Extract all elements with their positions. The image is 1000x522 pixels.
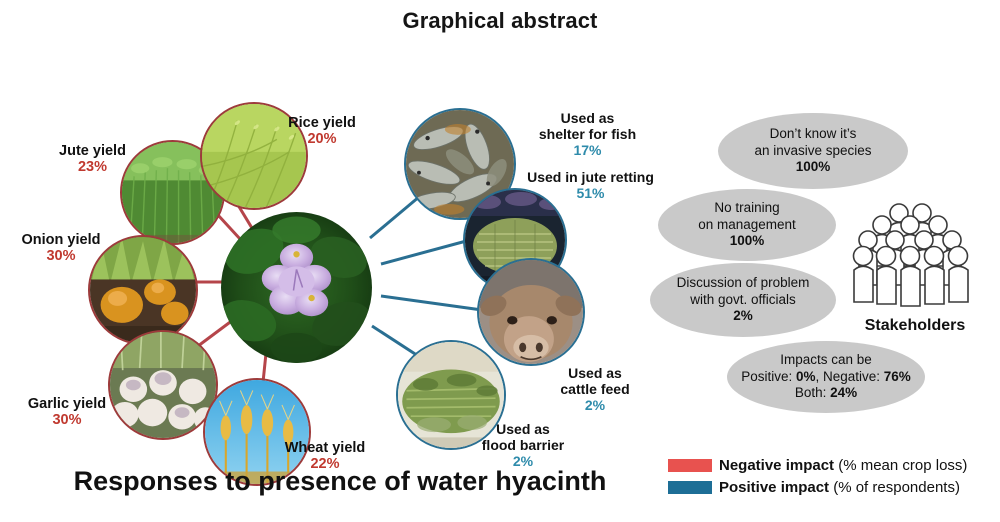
legend-label-negative: Negative impact bbox=[719, 457, 834, 474]
onion-yield-label: Onion yield bbox=[22, 232, 101, 248]
rice-yield-value: 20% bbox=[272, 131, 372, 147]
legend: Negative impact (% mean crop loss) Posit… bbox=[668, 455, 998, 499]
cattle-feed-line2: cattle feed bbox=[560, 381, 629, 397]
flood-barrier-line2: flood barrier bbox=[482, 437, 564, 453]
bubble-govt-value: 2% bbox=[677, 308, 810, 324]
label-garlic-yield: Garlic yield 30% bbox=[12, 396, 122, 428]
rice-yield-label: Rice yield bbox=[288, 115, 356, 131]
jute-yield-label: Jute yield bbox=[59, 143, 126, 159]
label-shelter-for-fish: Used as shelter for fish 17% bbox=[505, 111, 670, 159]
bubble-training-value: 100% bbox=[698, 233, 796, 249]
legend-row-negative: Negative impact (% mean crop loss) bbox=[668, 455, 998, 475]
bubble-govt-discussion: Discussion of problem with govt. officia… bbox=[650, 263, 836, 337]
legend-row-positive: Positive impact (% of respondents) bbox=[668, 477, 998, 497]
legend-swatch-negative bbox=[668, 459, 712, 472]
bubble-invasive-value: 100% bbox=[754, 159, 871, 175]
bubble-training-line2: on management bbox=[698, 217, 796, 233]
jute-retting-value: 51% bbox=[493, 186, 688, 202]
bubble-invasive-species: Don’t know it’s an invasive species 100% bbox=[718, 113, 908, 189]
bubble-impacts-line2: Positive: 0%, Negative: 76% bbox=[741, 369, 911, 385]
graphical-abstract-canvas: Graphical abstract bbox=[0, 0, 1000, 522]
bubble-invasive-line1: Don’t know it’s bbox=[754, 126, 871, 142]
bubble-impacts-line1: Impacts can be bbox=[741, 352, 911, 368]
legend-note-negative: (% mean crop loss) bbox=[834, 457, 967, 474]
bubble-impacts: Impacts can be Positive: 0%, Negative: 7… bbox=[727, 341, 925, 413]
legend-swatch-positive bbox=[668, 481, 712, 494]
label-onion-yield: Onion yield 30% bbox=[6, 232, 116, 264]
shelter-for-fish-line1: Used as bbox=[561, 110, 615, 126]
onion-yield-value: 30% bbox=[6, 248, 116, 264]
garlic-yield-label: Garlic yield bbox=[28, 396, 106, 412]
legend-note-positive: (% of respondents) bbox=[829, 479, 960, 496]
bubble-training-line1: No training bbox=[698, 200, 796, 216]
legend-label-positive: Positive impact bbox=[719, 479, 829, 496]
label-jute-retting: Used in jute retting 51% bbox=[493, 170, 688, 202]
crowd-of-people-icon bbox=[852, 200, 974, 312]
bubble-invasive-line2: an invasive species bbox=[754, 143, 871, 159]
jute-retting-line1: Used in jute retting bbox=[527, 169, 654, 185]
shelter-for-fish-value: 17% bbox=[505, 143, 670, 159]
bubble-no-training: No training on management 100% bbox=[658, 189, 836, 261]
cattle-feed-value: 2% bbox=[520, 398, 670, 414]
bubble-govt-line2: with govt. officials bbox=[677, 292, 810, 308]
garlic-yield-value: 30% bbox=[12, 412, 122, 428]
shelter-for-fish-line2: shelter for fish bbox=[539, 126, 636, 142]
flood-barrier-line1: Used as bbox=[496, 421, 550, 437]
water-hyacinth-center-photo bbox=[221, 212, 372, 363]
jute-yield-value: 23% bbox=[40, 159, 145, 175]
label-cattle-feed: Used as cattle feed 2% bbox=[520, 366, 670, 414]
wheat-yield-label: Wheat yield bbox=[285, 440, 366, 456]
label-rice-yield: Rice yield 20% bbox=[272, 115, 372, 147]
bubble-impacts-line3: Both: 24% bbox=[741, 385, 911, 401]
garlic-bulbs-photo bbox=[108, 330, 218, 440]
label-flood-barrier: Used as flood barrier 2% bbox=[448, 422, 598, 470]
label-jute-yield: Jute yield 23% bbox=[40, 143, 145, 175]
stakeholders-caption: Stakeholders bbox=[848, 317, 982, 335]
calf-photo bbox=[477, 258, 585, 366]
cattle-feed-line1: Used as bbox=[568, 365, 622, 381]
bottom-heading: Responses to presence of water hyacinth bbox=[60, 466, 620, 497]
bubble-govt-line1: Discussion of problem bbox=[677, 275, 810, 291]
